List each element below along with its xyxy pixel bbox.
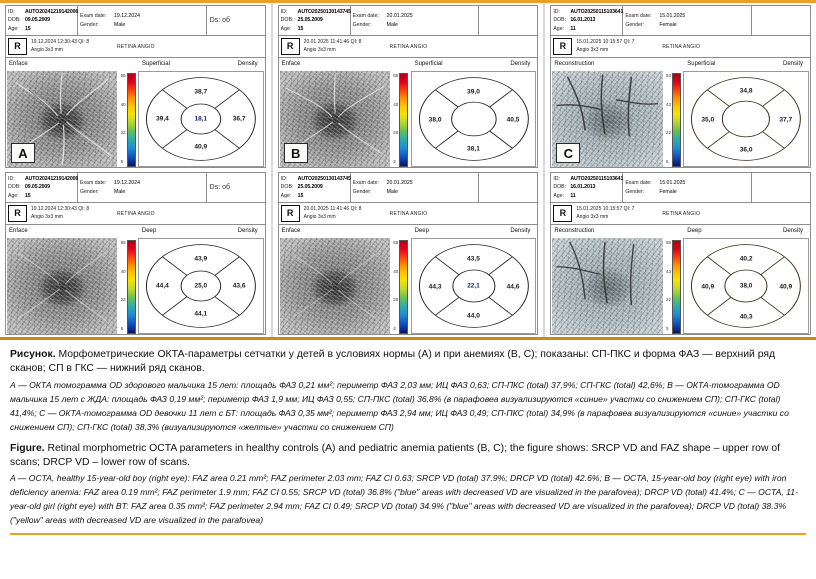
colorbar-tick-bottom: 5 — [666, 160, 671, 165]
figure-page: ID:AUTO20241219142006 DOB:09.05.2009 Age… — [0, 0, 816, 579]
id-value: AUTO20250130143745 — [298, 8, 351, 16]
colorbar-tick-bottom: 2 — [393, 160, 398, 165]
diagnosis-text: Ds: об — [207, 173, 265, 202]
density-colorbar: 55 40 20 2 — [390, 71, 411, 167]
density-metric-title: Density — [238, 227, 258, 237]
dob-value: 16.01.2013 — [570, 16, 595, 24]
octa-panel-c: ID:AUTO20250115103641 DOB:16.01.2013 Age… — [543, 3, 816, 337]
scan-images: Reconstruction — [551, 58, 810, 167]
scan-meta-strip: R 20.01.2025 11:41:46 QI: 8 Angio 3x3 mm… — [279, 203, 538, 225]
density-map-column: Superficial Density — [138, 59, 264, 167]
caption-ru-body: А — ОКТА томограмма OD здорового мальчик… — [10, 379, 806, 435]
gender-value: Male — [387, 188, 398, 196]
scan-mode: RETINA ANGIO — [662, 211, 808, 217]
sector-inferior-value: 44,0 — [467, 313, 480, 320]
gender-label: Gender: — [353, 188, 387, 196]
sector-superior-value: 43,5 — [467, 255, 480, 262]
colorbar-spacer — [390, 226, 411, 238]
sector-nasal-value: 44,4 — [156, 283, 169, 290]
colorbar-column: 55 40 22 5 — [117, 226, 138, 334]
eye-laterality-badge: R — [8, 205, 27, 222]
scan-datetime-block: 15.01.2025 10:15:57 QI: 7 Angio 3x3 mm — [576, 39, 662, 54]
density-layer-title: Deep — [142, 227, 156, 237]
enface-column: Enface — [7, 226, 117, 334]
colorbar-ticks: 55 40 20 2 — [392, 73, 399, 165]
caption-en-headline-text: Retinal morphometric OCTA parameters in … — [10, 443, 780, 468]
reconstruction-title: Reconstruction — [552, 59, 662, 71]
gender-label: Gender: — [80, 188, 114, 196]
age-value: 15 — [25, 192, 31, 200]
dob-value: 09.05.2009 — [25, 183, 50, 191]
scan-meta-strip: R 19.12.2024 12:30:43 QI: 8 Angio 3x3 mm… — [6, 203, 265, 225]
sector-center-value: 22,1 — [467, 283, 479, 290]
colorbar-column: 55 43 22 5 — [663, 226, 684, 334]
scan-c-superficial: ID:AUTO20250115103641 DOB:16.01.2013 Age… — [550, 5, 811, 168]
exam-date-label: Exam date: — [625, 179, 659, 187]
scan-datetime-block: 20.01.2025 11:41:46 QI: 8 Angio 3x3 mm — [304, 39, 390, 54]
id-label: ID: — [8, 8, 25, 16]
colorbar-gradient — [127, 73, 136, 167]
density-map-titles: Deep Density — [138, 226, 264, 238]
scan-a-superficial: ID:AUTO20241219142006 DOB:09.05.2009 Age… — [5, 5, 266, 168]
eye-laterality-badge: R — [553, 38, 572, 55]
gender-label: Gender: — [625, 21, 659, 29]
caption-ru-headline: Рисунок. Морфометрические ОКТА-параметры… — [10, 348, 806, 376]
colorbar-ticks: 53 43 22 5 — [665, 73, 672, 165]
colorbar-column: 55 40 20 2 — [390, 59, 411, 167]
colorbar-ticks: 55 40 22 5 — [120, 240, 127, 332]
density-colorbar: 53 43 22 5 — [663, 71, 684, 167]
patient-header: ID:AUTO20241219142006 DOB:09.05.2009 Age… — [6, 173, 265, 203]
dob-label: DOB: — [281, 16, 298, 24]
id-value: AUTO20241219142006 — [25, 8, 78, 16]
patient-ids: ID:AUTO20250130143745 DOB:25.05.2009 Age… — [279, 6, 351, 35]
colorbar-tick-mid: 40 — [393, 270, 398, 275]
dob-label: DOB: — [553, 183, 570, 191]
density-map-column: Deep Density — [138, 226, 264, 334]
scan-angio-size: Angio 3x3 mm — [576, 214, 662, 222]
age-label: Age: — [553, 25, 570, 33]
id-label: ID: — [553, 175, 570, 183]
sector-temporal-value: 36,7 — [233, 116, 246, 123]
scan-angio-size: Angio 3x3 mm — [304, 214, 390, 222]
patient-ids: ID:AUTO20241219142006 DOB:09.05.2009 Age… — [6, 173, 78, 202]
colorbar-tick-mid: 43 — [666, 270, 671, 275]
scan-mode: RETINA ANGIO — [117, 44, 263, 50]
age-label: Age: — [8, 192, 25, 200]
colorbar-gradient — [672, 240, 681, 334]
density-map-column: Superficial Density — [683, 59, 809, 167]
exam-info: Exam date:20.01.2025 Gender:Male — [351, 6, 480, 35]
colorbar-spacer — [390, 59, 411, 71]
enface-angiogram-image — [7, 238, 117, 334]
colorbar-tick-top: 55 — [666, 241, 671, 246]
colorbar-tick-top: 53 — [666, 74, 671, 79]
density-layer-title: Deep — [687, 227, 701, 237]
scan-angio-size: Angio 3x3 mm — [576, 47, 662, 55]
sector-superior-value: 34,8 — [740, 87, 753, 94]
density-layer-title: Superficial — [415, 60, 443, 70]
enface-title: Enface — [7, 226, 117, 238]
caption-ru-headline-text: Морфометрические ОКТА-параметры сетчатки… — [10, 349, 775, 374]
age-value: 15 — [25, 25, 31, 33]
density-layer-title: Deep — [415, 227, 429, 237]
exam-info: Exam date:15.01.2025 Gender:Female — [623, 6, 752, 35]
colorbar-tick-bottom: 5 — [121, 327, 126, 332]
scan-datetime: 20.01.2025 11:41:46 QI: 8 — [304, 206, 390, 214]
colorbar-tick-mid: 40 — [121, 103, 126, 108]
id-label: ID: — [8, 175, 25, 183]
scan-c-deep: ID:AUTO20250115103641 DOB:16.01.2013 Age… — [550, 172, 811, 335]
exam-info: Exam date:19.12.2024 Gender:Male — [78, 173, 207, 202]
dob-label: DOB: — [8, 16, 25, 24]
patient-header: ID:AUTO20250115103641 DOB:16.01.2013 Age… — [551, 173, 810, 203]
enface-column: Enface — [280, 226, 390, 334]
colorbar-tick-top: 55 — [393, 241, 398, 246]
exam-date-value: 19.12.2024 — [114, 12, 140, 20]
eye-laterality-badge: R — [553, 205, 572, 222]
scan-angio-size: Angio 3x3 mm — [304, 47, 390, 55]
scan-b-deep: ID:AUTO20250130143745 DOB:25.05.2009 Age… — [278, 172, 539, 335]
scan-images: Enface — [279, 225, 538, 334]
sector-superior-value: 39,0 — [467, 88, 480, 95]
patient-header: ID:AUTO20250130143745 DOB:25.05.2009 Age… — [279, 173, 538, 203]
age-value: 15 — [298, 25, 304, 33]
colorbar-column: 53 43 22 5 — [663, 59, 684, 167]
gender-label: Gender: — [80, 21, 114, 29]
colorbar-tick-bottom: 5 — [666, 327, 671, 332]
gender-value: Female — [659, 188, 676, 196]
colorbar-spacer — [663, 226, 684, 238]
sector-nasal-value: 44,3 — [429, 283, 442, 290]
dob-label: DOB: — [553, 16, 570, 24]
dob-value: 25.05.2009 — [298, 183, 323, 191]
colorbar-tick-top: 55 — [393, 74, 398, 79]
colorbar-tick-top: 55 — [121, 241, 126, 246]
eye-laterality-badge: R — [281, 205, 300, 222]
sector-center-value: 18,1 — [195, 116, 207, 123]
id-value: AUTO20250130143745 — [298, 175, 351, 183]
scan-datetime: 20.01.2025 11:41:46 QI: 8 — [304, 39, 390, 47]
colorbar-spacer — [117, 226, 138, 238]
exam-date-value: 19.12.2024 — [114, 179, 140, 187]
scan-mode: RETINA ANGIO — [390, 211, 536, 217]
dob-label: DOB: — [281, 183, 298, 191]
patient-ids: ID:AUTO20241219142006 DOB:09.05.2009 Age… — [6, 6, 78, 35]
age-label: Age: — [8, 25, 25, 33]
sector-inferior-value: 38,1 — [467, 146, 480, 153]
scan-mode: RETINA ANGIO — [390, 44, 536, 50]
dob-label: DOB: — [8, 183, 25, 191]
age-label: Age: — [281, 192, 298, 200]
patient-header: ID:AUTO20241219142006 DOB:09.05.2009 Age… — [6, 6, 265, 36]
scan-datetime-block: 19.12.2024 12:30:43 QI: 8 Angio 3x3 mm — [31, 206, 117, 221]
id-value: AUTO20241219142006 — [25, 175, 78, 183]
density-metric-title: Density — [510, 60, 530, 70]
colorbar-tick-mid: 40 — [393, 103, 398, 108]
reconstruction-title: Reconstruction — [552, 226, 662, 238]
age-label: Age: — [553, 192, 570, 200]
caption-bottom-rule — [10, 533, 806, 535]
colorbar-tick-low: 22 — [666, 131, 671, 136]
exam-date-label: Exam date: — [80, 179, 114, 187]
gender-value: Male — [387, 21, 398, 29]
scan-mode: RETINA ANGIO — [662, 44, 808, 50]
exam-date-label: Exam date: — [625, 12, 659, 20]
sector-temporal-value: 37,7 — [779, 116, 792, 123]
sector-center-value: 38,0 — [740, 283, 752, 290]
etdrs-density-map: 39,0 38,0 40,5 38,1 — [411, 71, 537, 167]
reconstruction-image — [552, 238, 662, 334]
exam-info: Exam date:20.01.2025 Gender:Male — [351, 173, 480, 202]
colorbar-tick-mid: 40 — [121, 270, 126, 275]
gender-label: Gender: — [353, 21, 387, 29]
scan-datetime-block: 15.01.2025 10:15:57 QI: 7 Angio 3x3 mm — [576, 206, 662, 221]
scan-meta-strip: R 19.12.2024 12:30:43 QI: 8 Angio 3x3 mm… — [6, 36, 265, 58]
faz-outline — [731, 104, 761, 134]
density-map-column: Superficial Density — [411, 59, 537, 167]
exam-date-label: Exam date: — [353, 179, 387, 187]
sector-temporal-value: 40,9 — [779, 283, 792, 290]
octa-panel-a: ID:AUTO20241219142006 DOB:09.05.2009 Age… — [0, 3, 271, 337]
dob-value: 25.05.2009 — [298, 16, 323, 24]
patient-ids: ID:AUTO20250115103641 DOB:16.01.2013 Age… — [551, 6, 623, 35]
diagnosis-text — [479, 173, 537, 202]
vessel-overlay — [280, 238, 390, 334]
scan-images: Enface — [6, 58, 265, 167]
diagnosis-text: Ds: об — [207, 6, 265, 35]
faz-outline — [459, 106, 487, 132]
sector-nasal-value: 40,9 — [701, 283, 714, 290]
vessel-overlay — [7, 238, 117, 334]
caption-en-body: A — OCTA, healthy 15-year-old boy (right… — [10, 472, 806, 528]
colorbar-gradient — [127, 240, 136, 334]
panel-letter-a: A — [11, 143, 35, 163]
id-label: ID: — [281, 175, 298, 183]
exam-info: Exam date:15.01.2025 Gender:Female — [623, 173, 752, 202]
colorbar-column: 55 40 20 4 — [390, 226, 411, 334]
etdrs-density-map: 38,7 39,4 36,7 40,9 18,1 — [138, 71, 264, 167]
dob-value: 16.01.2013 — [570, 183, 595, 191]
diagnosis-text — [752, 6, 810, 35]
reconstruction-column: Reconstruction — [552, 226, 662, 334]
colorbar-ticks: 55 43 22 5 — [665, 240, 672, 332]
scan-angio-size: Angio 3x3 mm — [31, 47, 117, 55]
gender-value: Male — [114, 21, 125, 29]
colorbar-tick-mid: 43 — [666, 103, 671, 108]
scan-angio-size: Angio 3x3 mm — [31, 214, 117, 222]
age-value: 15 — [298, 192, 304, 200]
exam-info: Exam date:19.12.2024 Gender:Male — [78, 6, 207, 35]
patient-header: ID:AUTO20250130143745 DOB:25.05.2009 Age… — [279, 6, 538, 36]
panel-letter-c: C — [556, 143, 580, 163]
scan-datetime: 19.12.2024 12:30:43 QI: 8 — [31, 39, 117, 47]
age-label: Age: — [281, 25, 298, 33]
sector-nasal-value: 38,0 — [429, 116, 442, 123]
scan-images: Enface — [6, 225, 265, 334]
caption-ru-label: Рисунок. — [10, 349, 56, 360]
density-layer-title: Superficial — [142, 60, 170, 70]
exam-date-value: 15.01.2025 — [659, 12, 685, 20]
scan-b-superficial: ID:AUTO20250130143745 DOB:25.05.2009 Age… — [278, 5, 539, 168]
id-label: ID: — [281, 8, 298, 16]
density-map-titles: Superficial Density — [683, 59, 809, 71]
density-colorbar: 55 40 22 5 — [117, 71, 138, 167]
eye-laterality-badge: R — [8, 38, 27, 55]
scan-images: Enface — [279, 58, 538, 167]
octa-figure-block: ID:AUTO20241219142006 DOB:09.05.2009 Age… — [0, 0, 816, 340]
density-colorbar: 55 40 20 4 — [390, 238, 411, 334]
vessel-overlay — [552, 238, 662, 334]
scan-datetime: 15.01.2025 10:15:57 QI: 7 — [576, 206, 662, 214]
density-colorbar: 55 43 22 5 — [663, 238, 684, 334]
panel-letter-b: B — [284, 143, 308, 163]
age-value: 11 — [570, 192, 575, 200]
enface-title: Enface — [280, 59, 390, 71]
sector-inferior-value: 40,9 — [194, 144, 207, 151]
id-label: ID: — [553, 8, 570, 16]
colorbar-ticks: 55 40 20 4 — [392, 240, 399, 332]
exam-date-value: 15.01.2025 — [659, 179, 685, 187]
patient-ids: ID:AUTO20250115103641 DOB:16.01.2013 Age… — [551, 173, 623, 202]
caption-en-label: Figure. — [10, 443, 45, 454]
patient-ids: ID:AUTO20250130143745 DOB:25.05.2009 Age… — [279, 173, 351, 202]
scan-meta-strip: R 15.01.2025 10:15:57 QI: 7 Angio 3x3 mm… — [551, 203, 810, 225]
exam-date-value: 20.01.2025 — [387, 179, 413, 187]
scan-images: Reconstruction — [551, 225, 810, 334]
diagnosis-text — [752, 173, 810, 202]
sector-superior-value: 40,2 — [740, 255, 753, 262]
colorbar-ticks: 55 40 22 5 — [120, 73, 127, 165]
colorbar-gradient — [672, 73, 681, 167]
scan-datetime-block: 20.01.2025 11:41:46 QI: 8 Angio 3x3 mm — [304, 206, 390, 221]
density-map-column: Deep Density — [411, 226, 537, 334]
patient-header: ID:AUTO20250115103641 DOB:16.01.2013 Age… — [551, 6, 810, 36]
gender-value: Female — [659, 21, 676, 29]
colorbar-gradient — [399, 73, 408, 167]
diagnosis-text — [479, 6, 537, 35]
etdrs-density-map: 43,9 44,4 43,6 44,1 25,0 — [138, 238, 264, 334]
exam-date-value: 20.01.2025 — [387, 12, 413, 20]
colorbar-tick-bottom: 5 — [121, 160, 126, 165]
density-map-titles: Deep Density — [411, 226, 537, 238]
density-map-titles: Superficial Density — [138, 59, 264, 71]
figure-caption: Рисунок. Морфометрические ОКТА-параметры… — [0, 340, 816, 539]
gender-label: Gender: — [625, 188, 659, 196]
octa-panel-b: ID:AUTO20250130143745 DOB:25.05.2009 Age… — [271, 3, 544, 337]
sector-temporal-value: 43,6 — [233, 283, 246, 290]
sector-temporal-value: 40,5 — [507, 116, 520, 123]
sector-nasal-value: 35,0 — [701, 116, 714, 123]
sector-inferior-value: 40,3 — [740, 314, 753, 321]
density-layer-title: Superficial — [687, 60, 715, 70]
colorbar-tick-low: 20 — [393, 298, 398, 303]
exam-date-label: Exam date: — [80, 12, 114, 20]
scan-datetime-block: 19.12.2024 12:30:43 QI: 8 Angio 3x3 mm — [31, 39, 117, 54]
density-map-titles: Deep Density — [683, 226, 809, 238]
sector-center-value: 25,0 — [195, 283, 207, 290]
etdrs-density-map: 40,2 40,9 40,9 40,3 38,0 — [683, 238, 809, 334]
colorbar-tick-low: 22 — [121, 131, 126, 136]
scan-mode: RETINA ANGIO — [117, 211, 263, 217]
sector-inferior-value: 44,1 — [194, 311, 207, 318]
dob-value: 09.05.2009 — [25, 16, 50, 24]
sector-inferior-value: 36,0 — [740, 147, 753, 154]
caption-en-headline: Figure. Retinal morphometric OCTA parame… — [10, 442, 806, 470]
scan-a-deep: ID:AUTO20241219142006 DOB:09.05.2009 Age… — [5, 172, 266, 335]
enface-angiogram-image — [280, 238, 390, 334]
sector-superior-value: 43,9 — [194, 255, 207, 262]
scan-meta-strip: R 20.01.2025 11:41:46 QI: 8 Angio 3x3 mm… — [279, 36, 538, 58]
scan-datetime: 19.12.2024 12:30:43 QI: 8 — [31, 206, 117, 214]
colorbar-tick-low: 22 — [121, 298, 126, 303]
sector-nasal-value: 39,4 — [156, 116, 169, 123]
gender-value: Male — [114, 188, 125, 196]
density-metric-title: Density — [510, 227, 530, 237]
density-map-titles: Superficial Density — [411, 59, 537, 71]
density-metric-title: Density — [783, 60, 803, 70]
colorbar-spacer — [117, 59, 138, 71]
colorbar-column: 55 40 22 5 — [117, 59, 138, 167]
colorbar-gradient — [399, 240, 408, 334]
sector-temporal-value: 44,6 — [507, 283, 520, 290]
enface-title: Enface — [7, 59, 117, 71]
density-metric-title: Density — [783, 227, 803, 237]
enface-title: Enface — [280, 226, 390, 238]
eye-laterality-badge: R — [281, 38, 300, 55]
colorbar-tick-bottom: 4 — [393, 327, 398, 332]
colorbar-tick-low: 20 — [393, 131, 398, 136]
id-value: AUTO20250115103641 — [570, 8, 623, 16]
scan-meta-strip: R 15.01.2025 10:15:57 QI: 7 Angio 3x3 mm… — [551, 36, 810, 58]
density-metric-title: Density — [238, 60, 258, 70]
colorbar-tick-low: 22 — [666, 298, 671, 303]
age-value: 11 — [570, 25, 575, 33]
sector-superior-value: 38,7 — [194, 88, 207, 95]
scan-datetime: 15.01.2025 10:15:57 QI: 7 — [576, 39, 662, 47]
density-colorbar: 55 40 22 5 — [117, 238, 138, 334]
colorbar-tick-top: 55 — [121, 74, 126, 79]
etdrs-density-map: 43,5 44,3 44,6 44,0 22,1 — [411, 238, 537, 334]
exam-date-label: Exam date: — [353, 12, 387, 20]
colorbar-spacer — [663, 59, 684, 71]
density-map-column: Deep Density — [683, 226, 809, 334]
id-value: AUTO20250115103641 — [570, 175, 623, 183]
etdrs-density-map: 34,8 35,0 37,7 36,0 — [683, 71, 809, 167]
